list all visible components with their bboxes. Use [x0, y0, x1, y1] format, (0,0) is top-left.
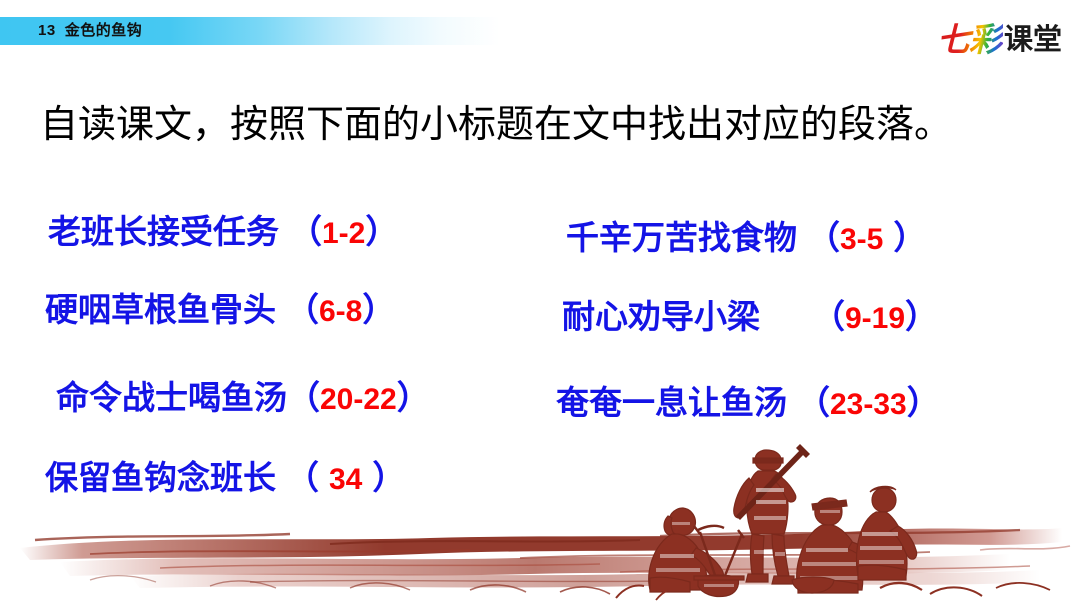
outline-item: 千辛万苦找食物（3-5）	[566, 218, 926, 260]
outline-item: 硬咽草根鱼骨头（6-8）	[45, 290, 395, 332]
outline-paragraph-range: 34	[329, 463, 362, 496]
header-bar	[0, 17, 1080, 45]
outline-open-paren: （	[286, 291, 319, 328]
brand-logo-colored-text: 七彩	[937, 23, 1003, 57]
outline-item-title: 老班长接受任务	[48, 213, 279, 250]
outline-close-paren: ）	[372, 459, 405, 496]
outline-item-title: 耐心劝导小梁	[562, 298, 760, 335]
outline-close-paren: ）	[397, 379, 430, 416]
cooking-pot	[694, 575, 744, 597]
foreground-grass-strokes	[90, 576, 1050, 600]
outline-paragraph-range: 9-19	[845, 302, 905, 335]
brand-logo-dark-text: 课堂	[1004, 23, 1062, 57]
outline-item-title: 保留鱼钩念班长	[45, 459, 276, 496]
outline-open-paren: （	[797, 384, 830, 421]
outline-open-paren: （	[289, 213, 322, 250]
outline-paragraph-range: 1-2	[322, 217, 365, 250]
outline-paragraph-range: 20-22	[320, 383, 397, 416]
campfire-tripod-and-pot	[694, 526, 744, 578]
outline-open-paren: （	[287, 379, 320, 416]
outline-open-paren: （	[286, 459, 319, 496]
outline-close-paren: ）	[905, 298, 938, 335]
standing-soldier-figure	[734, 444, 810, 584]
outline-open-paren: （	[807, 219, 840, 256]
outline-close-paren: ）	[893, 219, 926, 256]
outline-item-title: 命令战士喝鱼汤	[56, 379, 287, 416]
sitting-soldier-right-figure	[857, 486, 917, 580]
brand-logo: 七彩课堂	[937, 20, 1062, 60]
lesson-title: 金色的鱼钩	[65, 22, 143, 39]
instruction-text: 自读课文，按照下面的小标题在文中找出对应的段落。	[40, 100, 1050, 150]
soup-bowl	[792, 577, 834, 593]
outline-open-paren: （	[812, 298, 845, 335]
outline-close-paren: ）	[365, 213, 398, 250]
outline-item: 老班长接受任务（1-2）	[48, 212, 398, 254]
seated-soldier-left-figure	[649, 508, 724, 592]
lesson-header-title: 13金色的鱼钩	[38, 20, 142, 42]
outline-item: 命令战士喝鱼汤（20-22）	[56, 378, 430, 420]
outline-paragraph-range: 6-8	[319, 295, 362, 328]
slide-canvas: 13金色的鱼钩 七彩课堂 自读课文，按照下面的小标题在文中找出对应的段落。 老班…	[0, 0, 1080, 608]
outline-close-paren: ）	[907, 384, 940, 421]
outline-item-title: 硬咽草根鱼骨头	[45, 291, 276, 328]
ground-strokes	[20, 528, 1070, 588]
outline-item: 奄奄一息让鱼汤（23-33）	[556, 383, 940, 425]
outline-paragraph-range: 3-5	[840, 223, 883, 256]
soldiers-campfire-illustration	[0, 430, 1080, 608]
outline-paragraph-range: 23-33	[830, 388, 907, 421]
outline-item: 耐心劝导小梁（9-19）	[562, 297, 938, 339]
kneeling-soldier-figure	[797, 498, 886, 593]
outline-close-paren: ）	[362, 291, 395, 328]
outline-item-title: 千辛万苦找食物	[566, 219, 797, 256]
outline-item: 保留鱼钩念班长（34）	[45, 458, 405, 500]
lesson-number: 13	[38, 22, 56, 39]
outline-item-title: 奄奄一息让鱼汤	[556, 384, 787, 421]
